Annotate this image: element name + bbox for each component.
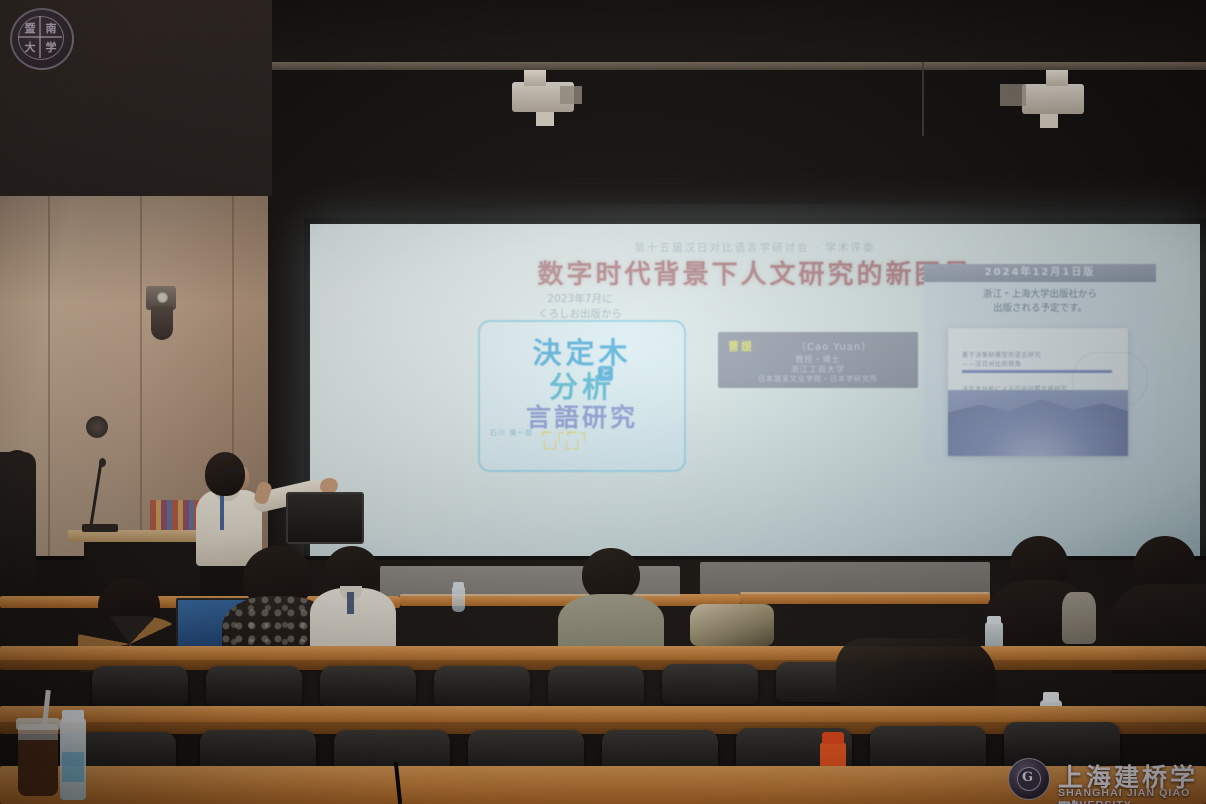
speaker-department: 日本語言文化学院・日本学研究所 (718, 374, 918, 384)
upcoming-book-title-2: ——汉日对比的视角 (962, 359, 1021, 368)
wall-camera-body (151, 306, 173, 340)
seat-r2-6[interactable] (662, 664, 758, 704)
speaker-name-panel: 曹媛 （Cao Yuan） 教授・博士 浙江工商大学 日本語言文化学院・日本学研… (718, 332, 918, 388)
book-title-connector: と (598, 366, 613, 381)
conference-seal-q4: 学 (41, 39, 61, 55)
university-logo: G 上海建桥学院 SHANGHAI JIAN QIAO UNIVERSITY (1008, 758, 1198, 800)
ceiling-projector-left-arm (536, 112, 554, 126)
ceiling-projector-right-mount (1046, 70, 1068, 86)
water-bottle-3-cap (1043, 692, 1059, 702)
seat-r2-4[interactable] (434, 666, 530, 706)
microphone-head (99, 458, 106, 467)
slide-subtitle: 第十五届汉日对比语言学研讨会 · 学术评委 (318, 240, 1192, 255)
seat-r2-5[interactable] (548, 666, 644, 706)
lecture-hall-photo: 第十五届汉日对比语言学研讨会 · 学术评委 数字时代背景下人文研究的新图景 20… (0, 0, 1206, 804)
presentation-slide: 第十五届汉日对比语言学研讨会 · 学术评委 数字时代背景下人文研究的新图景 20… (318, 232, 1192, 562)
ceiling-projector-right (1022, 84, 1084, 114)
audience-3-tie (347, 592, 354, 614)
desk-row-1c-front (700, 562, 990, 594)
upcoming-book-banner-text: 2024年12月1日版 (924, 264, 1156, 282)
presenter-glasses (228, 468, 244, 474)
presenter-head (205, 452, 245, 496)
iced-coffee-cup (18, 724, 58, 796)
water-bottle-2-cap (987, 616, 1001, 624)
upcoming-book-banner: 2024年12月1日版 (924, 264, 1156, 282)
audience-5-shoulder-light (1062, 592, 1096, 644)
conference-seal-q3: 大 (20, 39, 40, 55)
microphone-base (82, 524, 118, 532)
upcoming-book-cover: 基于决策树模型的语言研究 ——汉日对比的视角 决定木分析による日中対照言語研究 (948, 328, 1128, 456)
upcoming-book-note: 浙江・上海大学出版社から 出版される予定です。 (924, 288, 1156, 316)
speaker-name-cn: 曹媛 (728, 338, 754, 354)
wall-seam-1 (48, 196, 50, 556)
book-cover-card: 決定木 分析 と 言語研究 石川 慎一郎 ⌐┌⌐┐ └┘└┘ (478, 320, 686, 472)
conference-seal-divider-h (18, 36, 62, 38)
confidence-monitor (286, 492, 364, 544)
upcoming-book-subtitle: 决定木分析による日中対照言語研究 (962, 384, 1067, 393)
ceiling-wire (922, 62, 924, 136)
upcoming-book-decoration (1072, 352, 1148, 406)
water-bottle-1-cap (453, 582, 464, 588)
orange-bottle-cap (822, 732, 844, 744)
seat-r2-3[interactable] (320, 666, 416, 706)
university-logo-glyph: G (1022, 770, 1033, 785)
wall-speaker-grille (86, 416, 108, 438)
conference-seal-q2: 南 (41, 20, 61, 36)
ceiling-projector-left-plate (560, 86, 582, 104)
audience-body-edge (0, 452, 36, 608)
conference-seal-q1: 暨 (20, 20, 40, 36)
speaker-name-romanized: （Cao Yuan） (796, 338, 872, 353)
presenter-lanyard (220, 494, 224, 530)
ceiling-projector-left-mount (524, 70, 546, 86)
seat-r2-2[interactable] (206, 666, 302, 706)
water-bottle-4-label (62, 752, 84, 782)
ceiling-beam (268, 62, 1206, 70)
wall-seam-2 (140, 196, 142, 556)
upcoming-book-panel: 2024年12月1日版 浙江・上海大学出版社から 出版される予定です。 基于决策… (924, 264, 1156, 464)
book-author: 石川 慎一郎 (490, 428, 533, 438)
wall-camera-lens (157, 292, 168, 303)
ceiling-projector-right-plate (1000, 84, 1026, 106)
university-name-en: SHANGHAI JIAN QIAO UNIVERSITY (1058, 787, 1198, 804)
draped-jacket (836, 638, 996, 712)
iced-coffee-lid (16, 718, 60, 730)
book-tree-art: ⌐┌⌐┐ └┘└┘ (540, 426, 678, 466)
water-bottle-4-cap (62, 710, 84, 722)
seat-r2-1[interactable] (92, 666, 188, 706)
backpack-1 (690, 604, 774, 646)
water-bottle-1 (452, 586, 465, 612)
ceiling-projector-right-arm (1040, 114, 1058, 128)
upcoming-book-title-1: 基于决策树模型的语言研究 (962, 350, 1041, 359)
